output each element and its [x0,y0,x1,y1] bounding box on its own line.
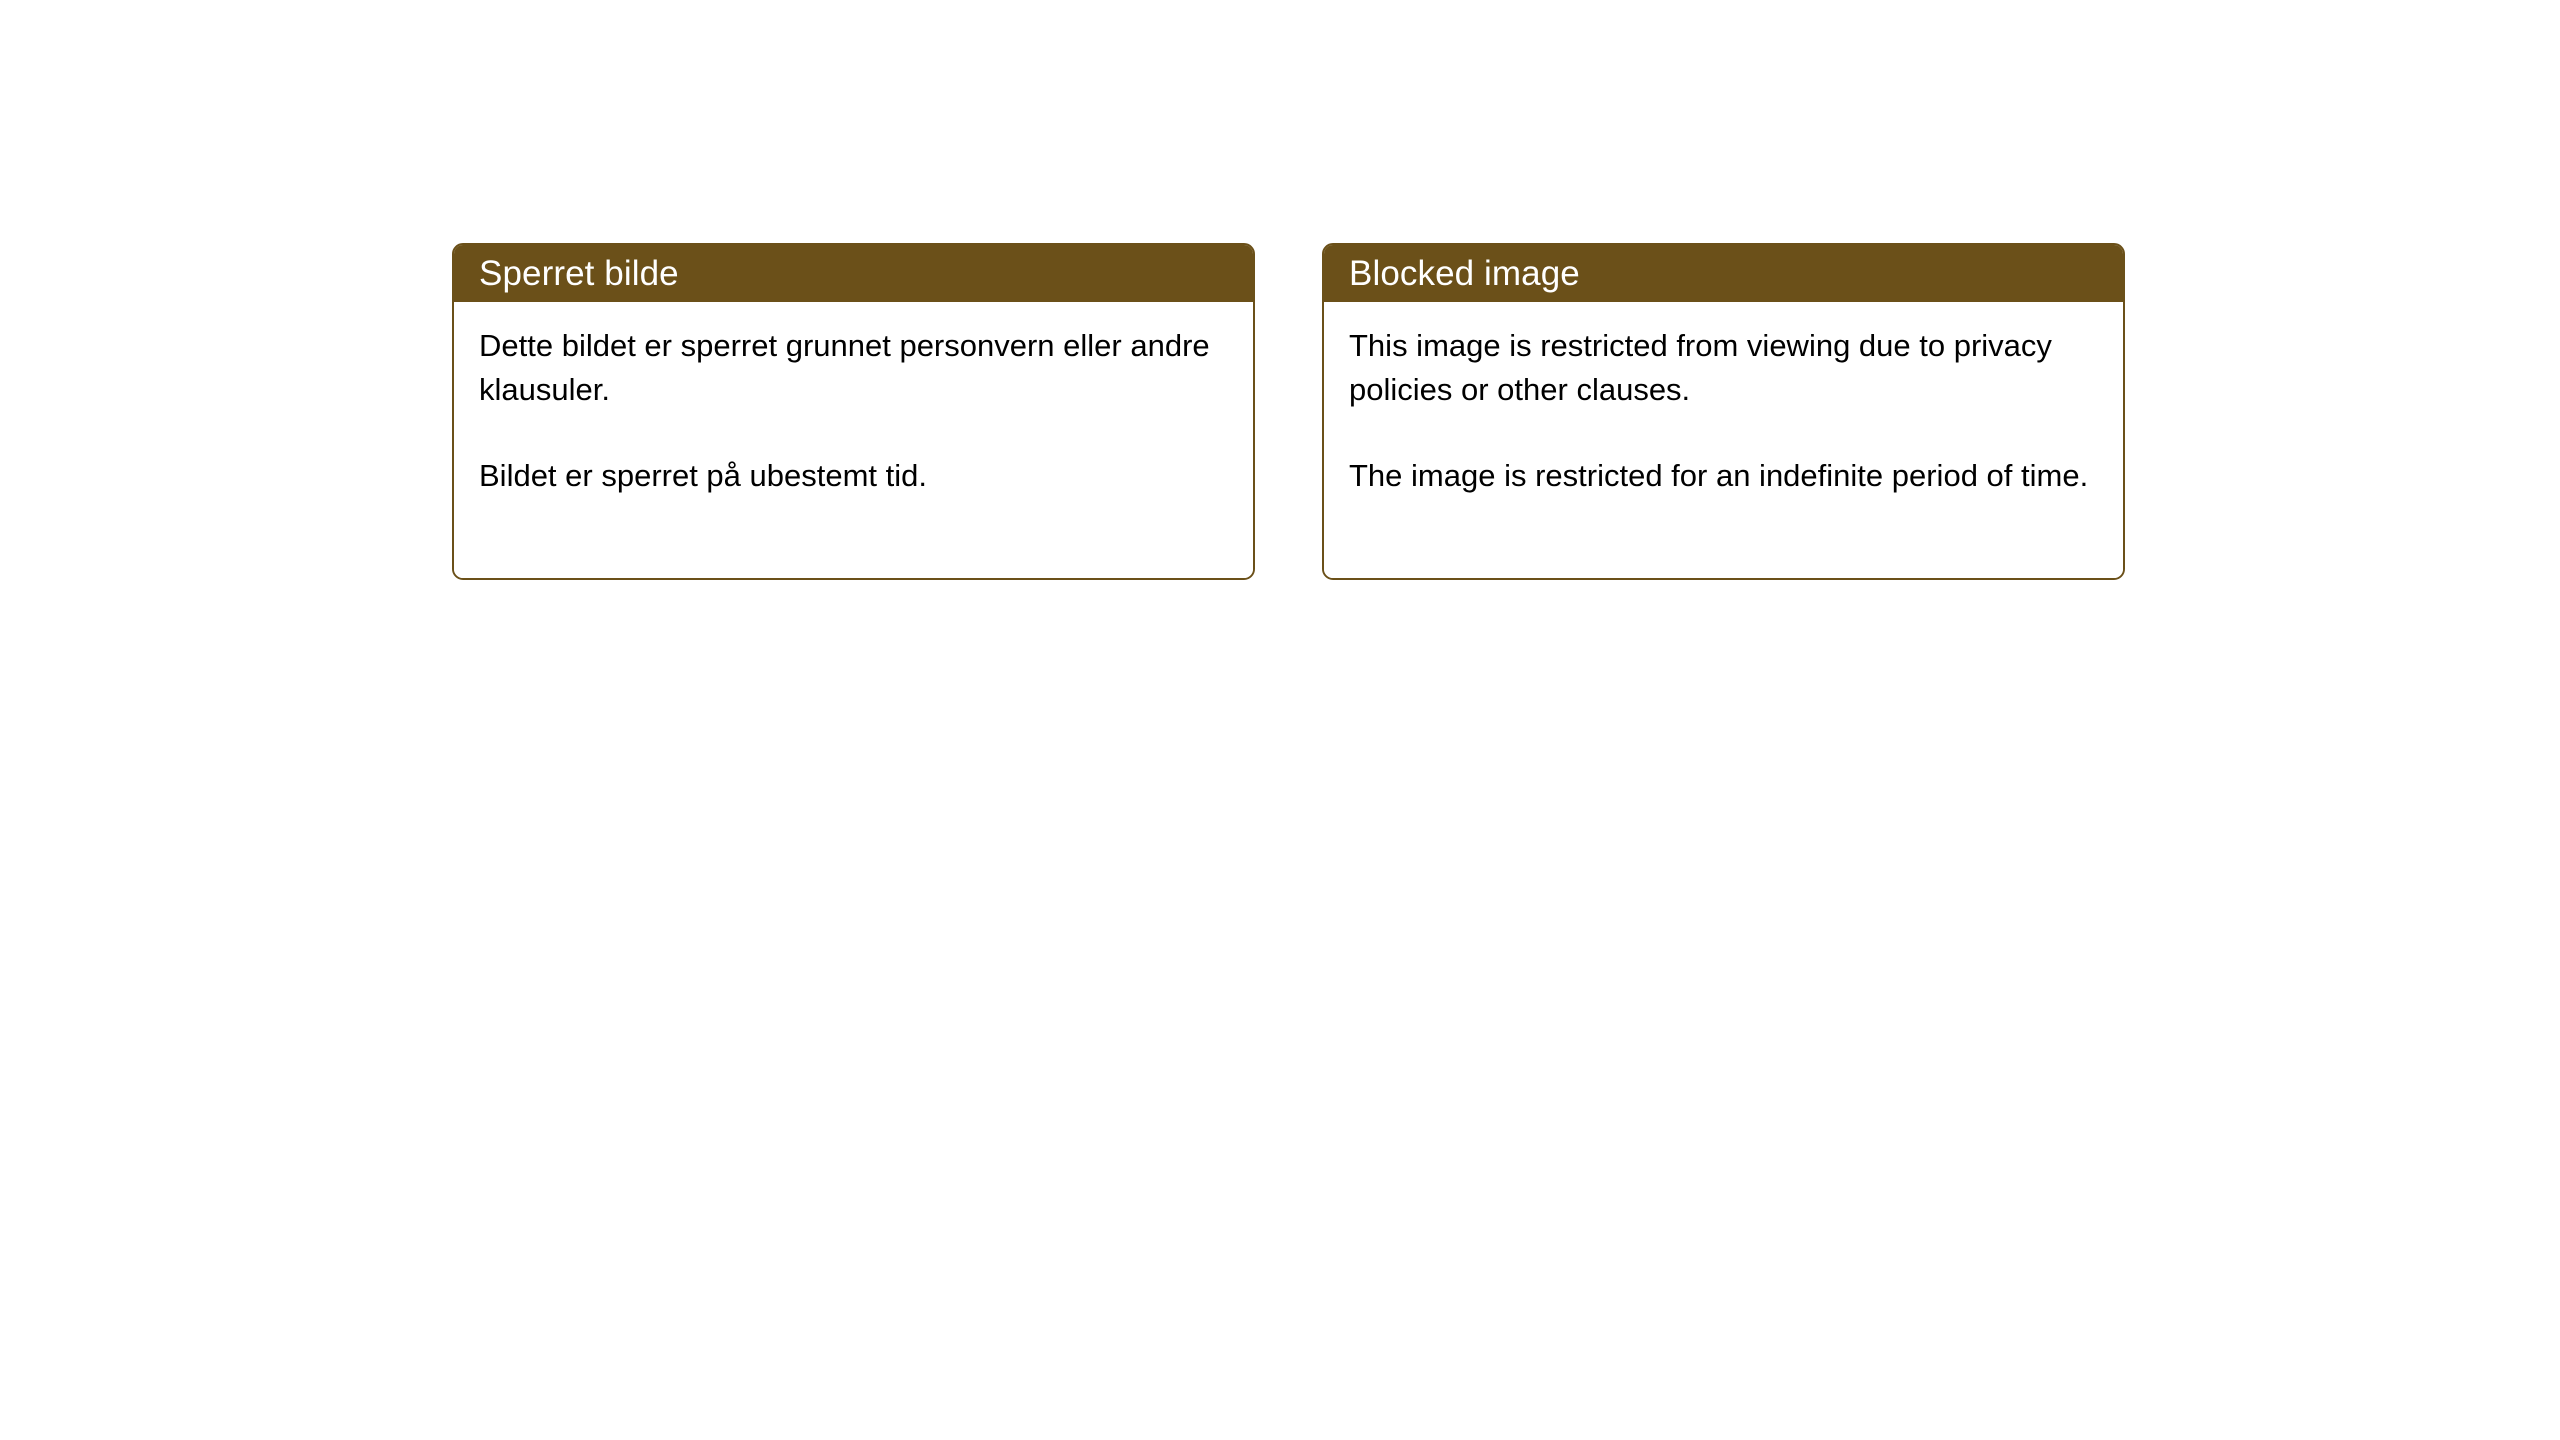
blocked-image-notice-card-english: Blocked image This image is restricted f… [1322,243,2125,580]
card-header-english: Blocked image [1324,245,2123,302]
card-title-norwegian: Sperret bilde [479,254,679,294]
page-canvas: Sperret bilde Dette bildet er sperret gr… [0,0,2560,1440]
blocked-image-notice-card-norwegian: Sperret bilde Dette bildet er sperret gr… [452,243,1255,580]
card-paragraph-primary-norwegian: Dette bildet er sperret grunnet personve… [479,324,1223,412]
card-paragraph-secondary-english: The image is restricted for an indefinit… [1349,454,2093,498]
card-paragraph-primary-english: This image is restricted from viewing du… [1349,324,2093,412]
card-paragraph-secondary-norwegian: Bildet er sperret på ubestemt tid. [479,454,1223,498]
card-body-english: This image is restricted from viewing du… [1324,302,2123,578]
card-header-norwegian: Sperret bilde [454,245,1253,302]
card-body-norwegian: Dette bildet er sperret grunnet personve… [454,302,1253,578]
card-title-english: Blocked image [1349,254,1580,294]
